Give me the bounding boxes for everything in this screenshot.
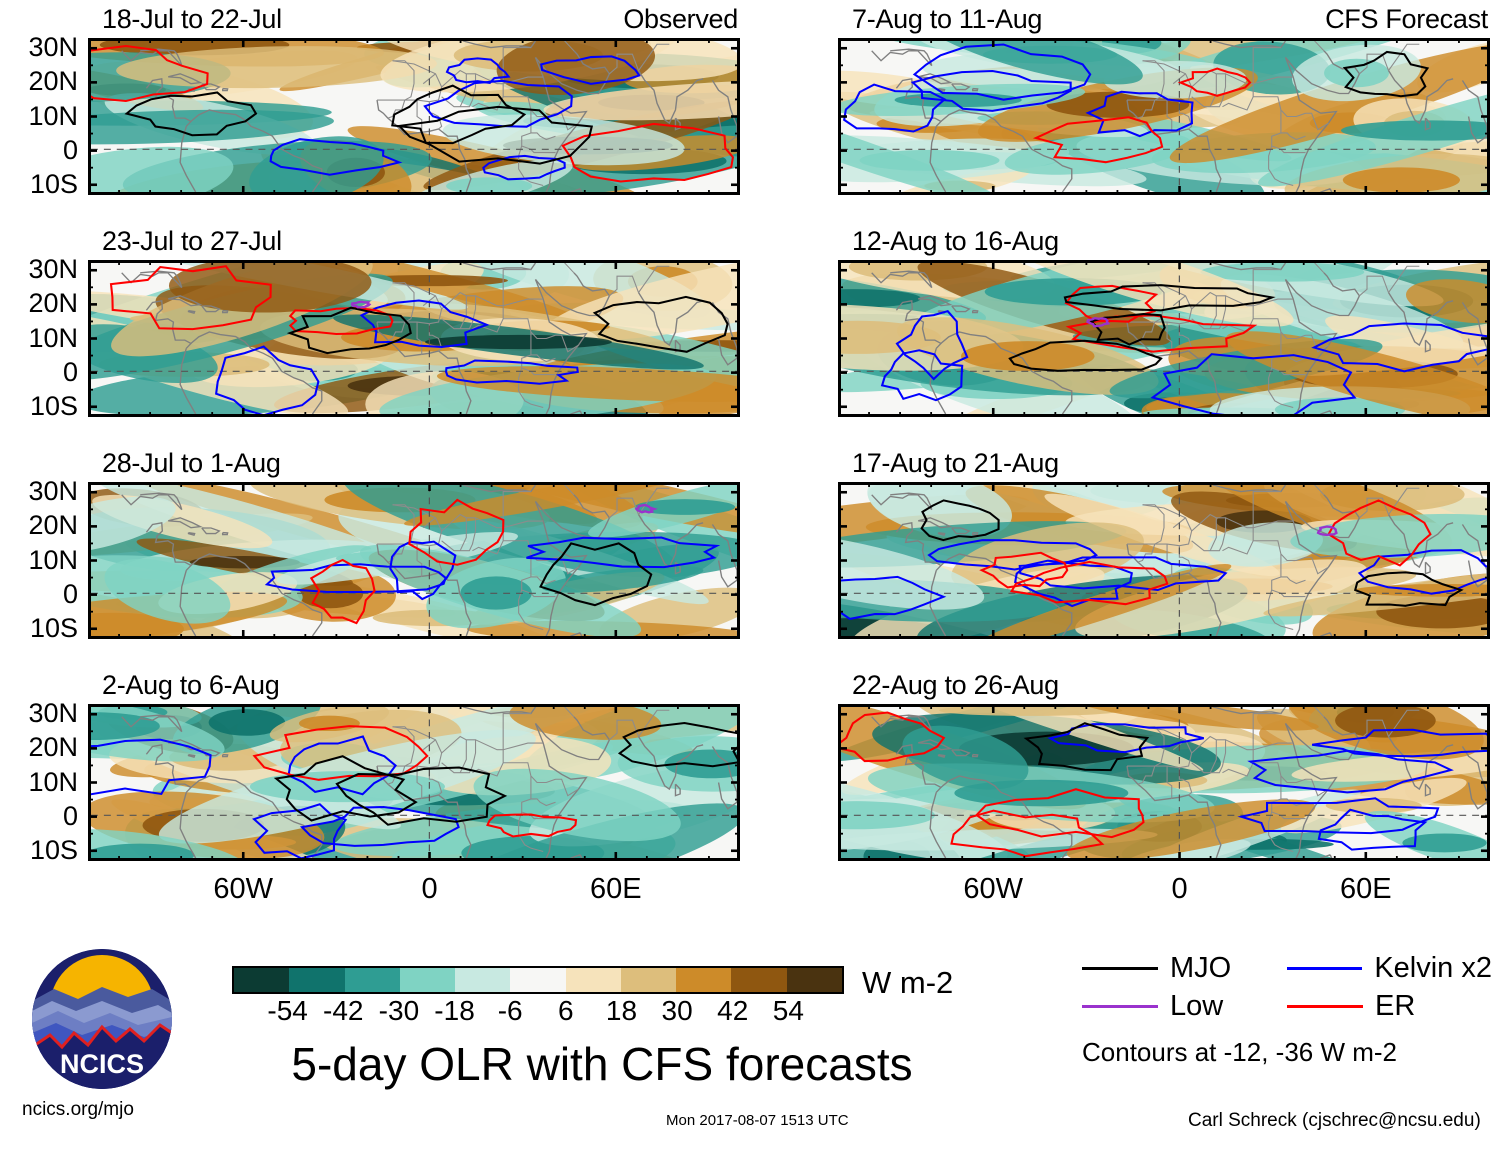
legend-label: Low (1170, 992, 1223, 1021)
colorbar-segment (731, 968, 786, 992)
y-axis-tick-label: 20N (0, 734, 78, 761)
colorbar-units-label: W m-2 (862, 967, 953, 998)
panel-title: 18-Jul to 22-Jul (102, 6, 282, 33)
colorbar-segment (345, 968, 400, 992)
figure-title: 5-day OLR with CFS forecasts (232, 1040, 972, 1088)
map-plot-area (88, 260, 740, 417)
y-axis-tick-label: 30N (0, 256, 78, 283)
credit-label: Carl Schreck (cjschrec@ncsu.edu) (1188, 1111, 1481, 1131)
colorbar-tick-label: 30 (662, 996, 693, 1026)
y-axis-tick-label: 0 (0, 137, 78, 164)
legend-item: MJO (1082, 954, 1287, 983)
y-axis-tick-label: 20N (0, 68, 78, 95)
logo-wordmark: NCICS (60, 1049, 144, 1079)
map-panel: 18-Jul to 22-JulObserved (88, 38, 740, 195)
colorbar-tick-label: -42 (323, 996, 363, 1026)
map-panel: 2-Aug to 6-Aug (88, 704, 740, 861)
legend-line-swatch (1287, 1005, 1363, 1008)
colorbar-segment (400, 968, 455, 992)
map-plot-area (838, 38, 1490, 195)
legend-line-swatch (1082, 967, 1158, 970)
timestamp-label: Mon 2017-08-07 1513 UTC (666, 1113, 849, 1129)
map-panel: 7-Aug to 11-AugCFS Forecast (838, 38, 1490, 195)
colorbar-segment (234, 968, 289, 992)
colorbar-tick-labels: -54-42-30-18-6618304254 (232, 994, 844, 1028)
figure-footer: NCICS ncics.org/mjo -54-42-30-18-6618304… (0, 935, 1510, 1149)
x-axis-tick-label: 60E (1306, 875, 1426, 904)
legend-item: ER (1287, 992, 1492, 1021)
legend-item: Kelvin x2 (1287, 954, 1492, 983)
y-axis-tick-label: 10S (0, 393, 78, 420)
legend-row: LowER (1082, 987, 1492, 1025)
anomaly-core (1324, 59, 1389, 88)
logo-url-label: ncics.org/mjo (22, 1099, 134, 1121)
colorbar-tick-label: 54 (773, 996, 804, 1026)
legend-label: MJO (1170, 954, 1231, 983)
anomaly-core (1343, 167, 1460, 192)
x-axis-tick-label: 0 (370, 875, 490, 904)
map-panel: 23-Jul to 27-Jul (88, 260, 740, 417)
y-axis-tick-label: 0 (0, 359, 78, 386)
colorbar-swatches (232, 966, 844, 994)
map-panel: 12-Aug to 16-Aug (838, 260, 1490, 417)
contour-legend: MJOKelvin x2LowER (1082, 949, 1492, 1025)
panel-title: 7-Aug to 11-Aug (852, 6, 1042, 33)
colorbar: -54-42-30-18-6618304254 (232, 966, 844, 1028)
y-axis-tick-label: 30N (0, 478, 78, 505)
x-axis-tick-label: 60W (933, 875, 1053, 904)
colorbar-tick-label: 18 (606, 996, 637, 1026)
y-axis-tick-label: 10N (0, 547, 78, 574)
panel-title: 12-Aug to 16-Aug (852, 228, 1059, 255)
ncics-logo: NCICS ncics.org/mjo (22, 949, 197, 1089)
map-panel: 22-Aug to 26-Aug (838, 704, 1490, 861)
panel-title: 2-Aug to 6-Aug (102, 672, 279, 699)
y-axis-tick-label: 0 (0, 803, 78, 830)
y-axis-tick-label: 30N (0, 34, 78, 61)
colorbar-tick-label: 6 (558, 996, 574, 1026)
y-axis-tick-label: 10N (0, 103, 78, 130)
colorbar-segment (510, 968, 565, 992)
legend-label: ER (1375, 992, 1415, 1021)
colorbar-tick-label: -18 (434, 996, 474, 1026)
y-axis-tick-label: 20N (0, 512, 78, 539)
colorbar-tick-label: -30 (379, 996, 419, 1026)
colorbar-segment (621, 968, 676, 992)
legend-line-swatch (1082, 1005, 1158, 1008)
y-axis-tick-label: 10S (0, 615, 78, 642)
colorbar-segment (676, 968, 731, 992)
x-axis-tick-label: 60E (556, 875, 676, 904)
map-plot-area (88, 704, 740, 861)
y-axis-tick-label: 10S (0, 837, 78, 864)
colorbar-segment (289, 968, 344, 992)
column-header: CFS Forecast (1325, 6, 1488, 33)
logo-circle-icon: NCICS (32, 949, 172, 1089)
y-axis-tick-label: 10N (0, 769, 78, 796)
column-header: Observed (623, 6, 738, 33)
legend-label: Kelvin x2 (1374, 954, 1492, 983)
panel-title: 28-Jul to 1-Aug (102, 450, 281, 477)
legend-row: MJOKelvin x2 (1082, 949, 1492, 987)
map-panel: 17-Aug to 21-Aug (838, 482, 1490, 639)
map-plot-area (838, 704, 1490, 861)
colorbar-tick-label: -54 (267, 996, 307, 1026)
panel-grid: 18-Jul to 22-JulObserved30N20N10N010S23-… (0, 0, 1510, 935)
colorbar-segment (566, 968, 621, 992)
legend-item: Low (1082, 992, 1287, 1021)
colorbar-tick-label: -6 (498, 996, 523, 1026)
country-border-path (388, 100, 405, 118)
panel-title: 17-Aug to 21-Aug (852, 450, 1059, 477)
panel-title: 23-Jul to 27-Jul (102, 228, 282, 255)
coastline-path (872, 49, 932, 65)
y-axis-tick-label: 30N (0, 700, 78, 727)
colorbar-segment (787, 968, 842, 992)
map-plot-area (838, 482, 1490, 639)
panel-title: 22-Aug to 26-Aug (852, 672, 1059, 699)
legend-line-swatch (1287, 967, 1362, 970)
coastline-path (1425, 562, 1430, 574)
y-axis-tick-label: 0 (0, 581, 78, 608)
map-panel: 28-Jul to 1-Aug (88, 482, 740, 639)
x-axis-tick-label: 60W (183, 875, 303, 904)
colorbar-segment (455, 968, 510, 992)
x-axis-tick-label: 0 (1120, 875, 1240, 904)
colorbar-tick-label: 42 (717, 996, 748, 1026)
map-plot-area (838, 260, 1490, 417)
anomaly-core (1326, 798, 1422, 813)
y-axis-tick-label: 10N (0, 325, 78, 352)
y-axis-tick-label: 10S (0, 171, 78, 198)
contour-note: Contours at -12, -36 W m-2 (1082, 1039, 1397, 1065)
map-plot-area (88, 38, 740, 195)
y-axis-tick-label: 20N (0, 290, 78, 317)
map-plot-area (88, 482, 740, 639)
